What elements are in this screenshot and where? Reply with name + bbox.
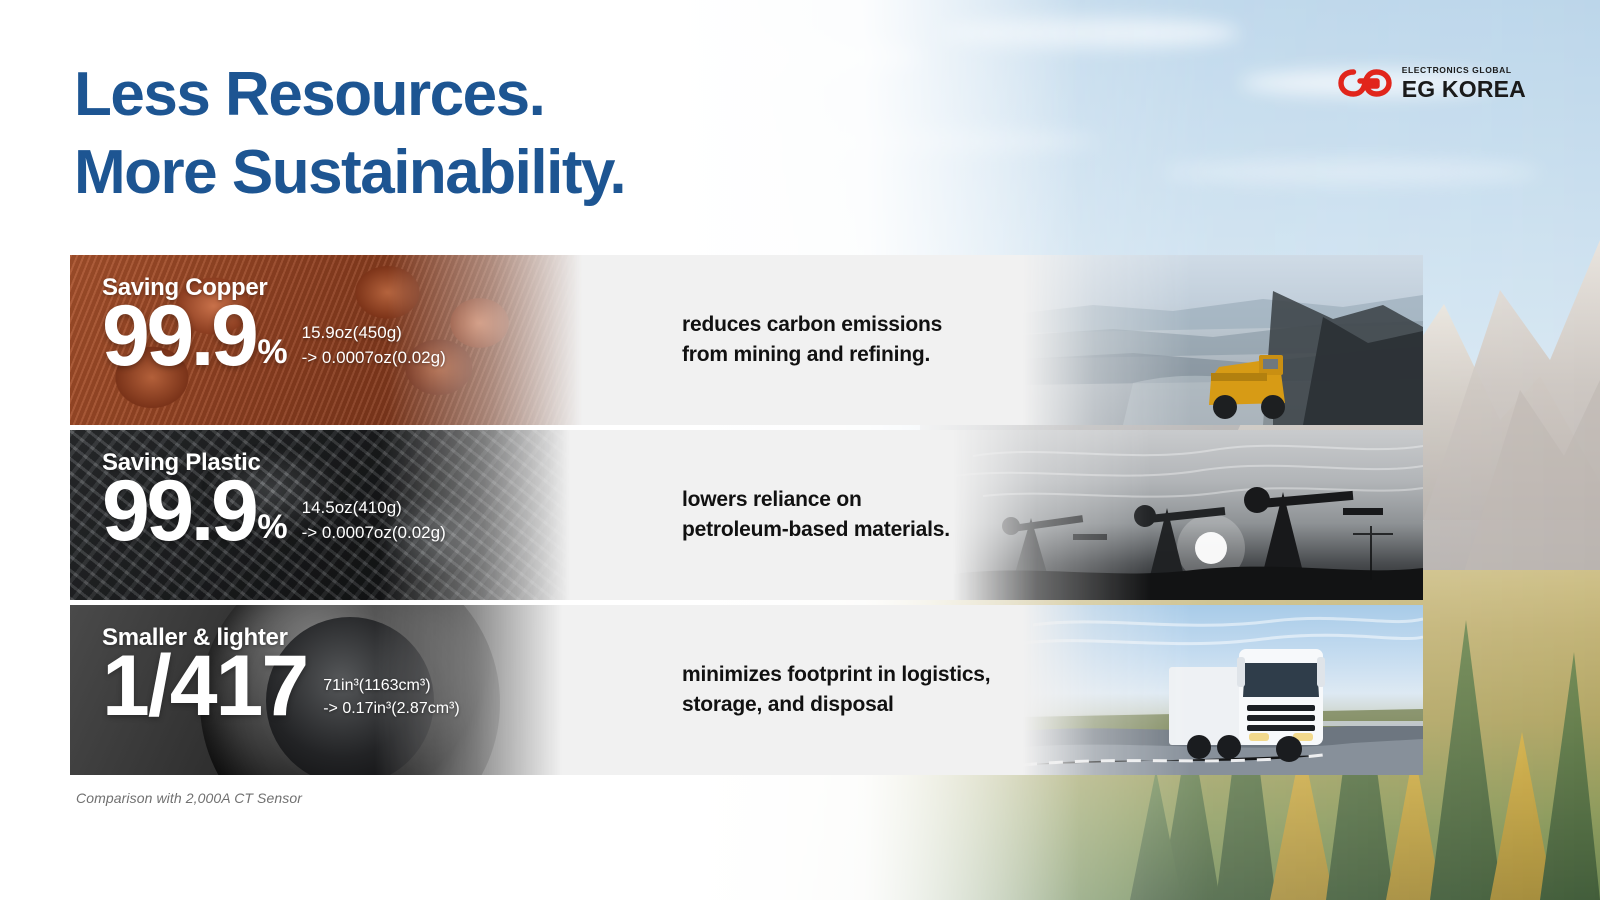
mine-detail [1023, 255, 1423, 425]
description-line-1: minimizes footprint in logistics, [682, 663, 990, 686]
footnote: Comparison with 2,000A CT Sensor [76, 790, 302, 806]
copper-stat-block: Saving Copper 99.9 % 15.9oz(450g) -> 0.0… [70, 255, 590, 425]
headline-line-1: Less Resources. [74, 60, 544, 129]
open-pit-mine-haul-truck-image [1023, 255, 1423, 425]
stat-detail-from: 71in³(1163cm³) [323, 677, 430, 694]
size-stat-block: Smaller & lighter 1/417 71in³(1163cm³) -… [70, 605, 590, 775]
stat-row-plastic[interactable]: Saving Plastic 99.9 % 14.5oz(410g) -> 0.… [70, 430, 1423, 600]
stat-detail-from: 14.5oz(410g) [302, 498, 402, 517]
copper-description: reduces carbon emissions from mining and… [682, 255, 1082, 425]
page-title: Less Resources. More Sustainability. [74, 56, 625, 212]
stat-detail-to: -> 0.0007oz(0.02g) [302, 348, 446, 367]
logo-name: EG KOREA [1402, 78, 1526, 101]
stat-detail: 71in³(1163cm³) -> 0.17in³(2.87cm³) [323, 674, 460, 726]
logo-tagline: ELECTRONICS GLOBAL [1402, 66, 1526, 75]
stat-unit: % [257, 510, 287, 552]
description-line-1: reduces carbon emissions [682, 313, 942, 336]
truck-detail [1023, 605, 1423, 775]
stat-value: 99.9 [102, 472, 255, 551]
description-line-1: lowers reliance on [682, 488, 862, 511]
stat-row-size[interactable]: Smaller & lighter 1/417 71in³(1163cm³) -… [70, 605, 1423, 775]
stat-detail: 14.5oz(410g) -> 0.0007oz(0.02g) [302, 496, 446, 551]
eg-infinity-icon [1338, 68, 1392, 98]
stats-card-stack: Saving Copper 99.9 % 15.9oz(450g) -> 0.0… [70, 255, 1423, 775]
brand-logo: ELECTRONICS GLOBAL EG KOREA [1338, 66, 1526, 101]
headline-line-2: More Sustainability. [74, 134, 625, 212]
stat-detail-from: 15.9oz(450g) [302, 323, 402, 342]
stat-detail-to: -> 0.0007oz(0.02g) [302, 523, 446, 542]
plastic-stat-block: Saving Plastic 99.9 % 14.5oz(410g) -> 0.… [70, 430, 590, 600]
cargo-truck-highway-image [1023, 605, 1423, 775]
description-line-2: storage, and disposal [682, 693, 894, 716]
stat-detail: 15.9oz(450g) -> 0.0007oz(0.02g) [302, 321, 446, 376]
stat-row-copper[interactable]: Saving Copper 99.9 % 15.9oz(450g) -> 0.0… [70, 255, 1423, 425]
stat-value: 99.9 [102, 297, 255, 376]
description-line-2: from mining and refining. [682, 343, 930, 366]
stat-detail-to: -> 0.17in³(2.87cm³) [323, 700, 460, 717]
size-description: minimizes footprint in logistics, storag… [682, 605, 1082, 775]
stat-unit: % [257, 335, 287, 377]
stat-value: 1/417 [102, 647, 307, 726]
plastic-description: lowers reliance on petroleum-based mater… [682, 430, 1082, 600]
description-line-2: petroleum-based materials. [682, 518, 950, 541]
